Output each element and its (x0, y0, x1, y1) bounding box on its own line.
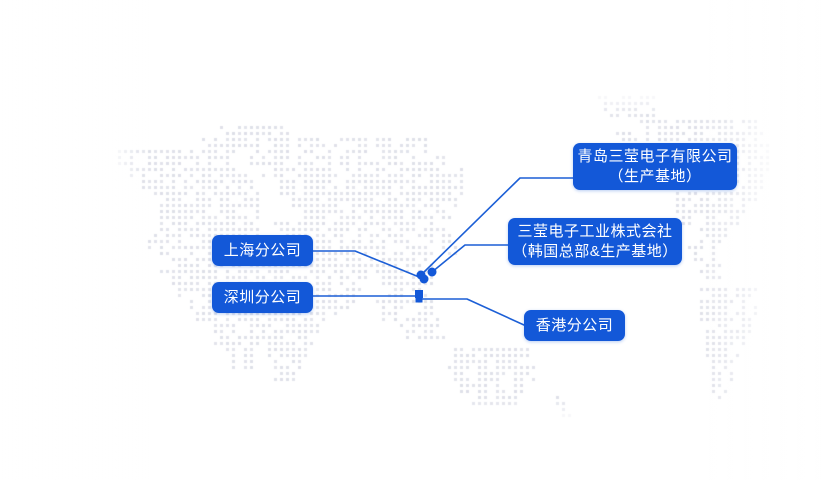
label-korea-line2: （韩国总部&生产基地） (512, 242, 678, 262)
label-qingdao-line2: （生产基地） (608, 167, 701, 187)
label-korea-headquarters[interactable]: 三莹电子工业株式会社 （韩国总部&生产基地） (508, 218, 682, 265)
label-qingdao-line1: 青岛三莹电子有限公司 (577, 147, 732, 167)
label-shanghai-branch[interactable]: 上海分公司 (212, 235, 313, 266)
shanghai-marker[interactable] (420, 275, 429, 284)
hongkong-marker[interactable] (416, 296, 423, 303)
label-korea-line1: 三莹电子工业株式会社 (517, 222, 672, 242)
korea-connector (432, 245, 508, 272)
label-shanghai-line1: 上海分公司 (224, 241, 302, 261)
shanghai-connector (313, 251, 424, 279)
connector-lines-layer (0, 0, 824, 480)
hongkong-connector (419, 299, 524, 325)
label-shenzhen-line1: 深圳分公司 (224, 288, 302, 308)
label-hongkong-line1: 香港分公司 (536, 316, 614, 336)
label-hongkong-branch[interactable]: 香港分公司 (524, 310, 625, 341)
label-qingdao-factory[interactable]: 青岛三莹电子有限公司 （生产基地） (573, 143, 737, 190)
world-map-infographic: 青岛三莹电子有限公司 （生产基地） 三莹电子工业株式会社 （韩国总部&生产基地）… (0, 0, 824, 480)
korea-marker[interactable] (428, 268, 437, 277)
label-shenzhen-branch[interactable]: 深圳分公司 (212, 282, 313, 313)
